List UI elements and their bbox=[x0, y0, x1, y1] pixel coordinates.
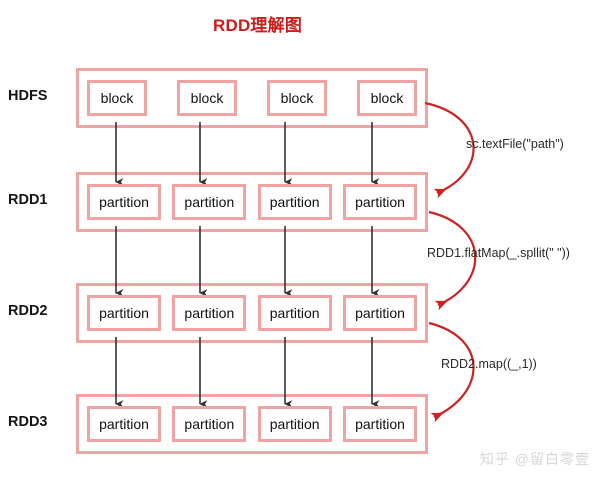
cell-partition: partition bbox=[172, 184, 246, 220]
cell-partition: partition bbox=[172, 406, 246, 442]
page-title: RDD理解图 bbox=[0, 11, 515, 36]
cell-partition: partition bbox=[343, 406, 417, 442]
cell-partition: partition bbox=[87, 295, 161, 331]
cell-partition: partition bbox=[87, 406, 161, 442]
cell-partition: partition bbox=[258, 184, 332, 220]
cell-partition: partition bbox=[172, 295, 246, 331]
cell-block: block bbox=[267, 80, 327, 116]
cell-row-hdfs: block block block block bbox=[76, 80, 428, 116]
vertical-flow-arrows bbox=[116, 122, 372, 404]
cell-partition: partition bbox=[343, 295, 417, 331]
cell-partition: partition bbox=[343, 184, 417, 220]
cell-row-rdd2: partition partition partition partition bbox=[76, 295, 428, 331]
transformation-label-textfile: sc.textFile("path") bbox=[466, 137, 564, 151]
cell-partition: partition bbox=[258, 406, 332, 442]
diagram-canvas: RDD理解图 HDFS RDD1 RDD2 RDD3 bbox=[0, 0, 600, 479]
transformation-label-map: RDD2.map((_,1)) bbox=[441, 357, 537, 371]
cell-row-rdd1: partition partition partition partition bbox=[76, 184, 428, 220]
row-label-rdd3: RDD3 bbox=[8, 414, 70, 430]
cell-block: block bbox=[177, 80, 237, 116]
row-label-hdfs: HDFS bbox=[8, 88, 70, 104]
row-label-rdd2: RDD2 bbox=[8, 303, 70, 319]
cell-block: block bbox=[87, 80, 147, 116]
watermark: 知乎 @留白零壹 bbox=[480, 449, 590, 469]
transformation-label-flatmap: RDD1.flatMap(_.spllit(" ")) bbox=[427, 246, 570, 260]
cell-row-rdd3: partition partition partition partition bbox=[76, 406, 428, 442]
row-label-rdd1: RDD1 bbox=[8, 192, 70, 208]
cell-partition: partition bbox=[87, 184, 161, 220]
cell-partition: partition bbox=[258, 295, 332, 331]
cell-block: block bbox=[357, 80, 417, 116]
